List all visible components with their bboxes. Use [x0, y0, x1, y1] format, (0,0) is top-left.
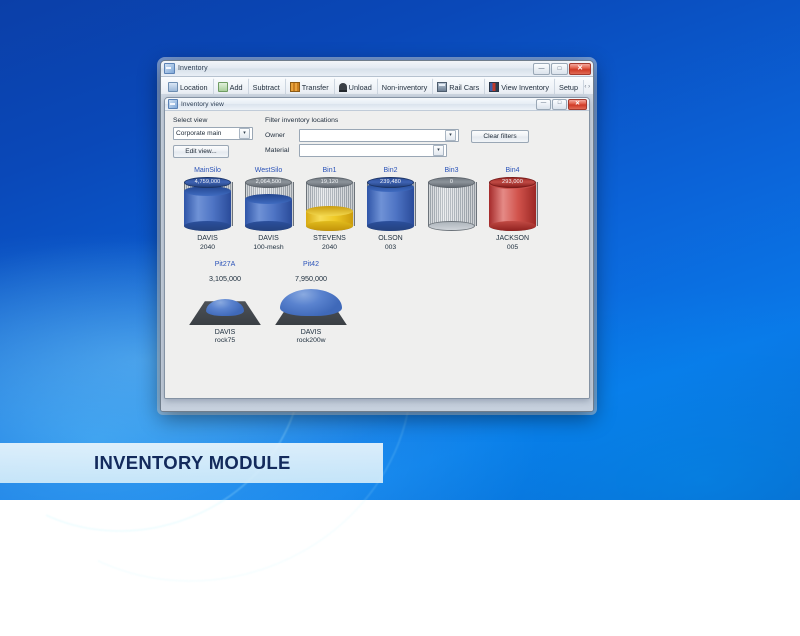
- pit-amount: 3,105,000: [209, 275, 241, 282]
- tank-owner: JACKSON: [496, 235, 529, 244]
- tank-cell[interactable]: Bin4293,000JACKSON005: [482, 167, 543, 252]
- toolbar-label-transfer: Transfer: [302, 83, 329, 92]
- pit-graphic: [189, 289, 261, 325]
- tank-name: Bin2: [383, 167, 397, 174]
- tank-top-rim: 4,759,000: [184, 177, 231, 188]
- material-filter-row: Material ▾: [265, 144, 459, 157]
- tank-graphic: 19,120: [306, 177, 353, 231]
- tank-amount: 0: [429, 178, 474, 187]
- tank-amount: 4,759,000: [185, 178, 230, 187]
- tank-cell[interactable]: Bin2239,480OLSON003: [360, 167, 421, 252]
- tank-graphic: 293,000: [489, 177, 536, 231]
- tank-cell[interactable]: WestSilo2,064,500DAVIS100-mesh: [238, 167, 299, 252]
- select-view-group: Select view Corporate main ▾ Edit view..…: [173, 118, 253, 158]
- pit-material-pile: [280, 289, 342, 316]
- owner-label: Owner: [265, 132, 295, 139]
- pit-name: Pit27A: [215, 261, 236, 268]
- mdi-client-area: Inventory view — □ ✕ Select view Corpora…: [161, 94, 593, 411]
- toolbar-label-setup: Setup: [559, 83, 578, 92]
- app-window-title: Inventory: [178, 65, 208, 72]
- location-icon: [168, 82, 178, 92]
- close-button[interactable]: ✕: [569, 63, 591, 75]
- edit-view-button[interactable]: Edit view...: [173, 145, 229, 158]
- owner-dropdown[interactable]: ▾: [299, 129, 459, 142]
- child-window-controls: — □ ✕: [536, 99, 587, 110]
- tank-amount: 19,120: [307, 178, 352, 187]
- tank-graphic: 4,759,000: [184, 177, 231, 231]
- pit-owner: DAVIS: [215, 328, 236, 337]
- child-close-button[interactable]: ✕: [568, 99, 587, 110]
- pit-cell[interactable]: Pit427,950,000DAVISrock200w: [273, 261, 349, 346]
- transfer-icon: [290, 82, 300, 92]
- chevron-down-icon[interactable]: ▾: [445, 130, 456, 141]
- tank-graphic: 2,064,500: [245, 177, 292, 231]
- child-maximize-button[interactable]: □: [552, 99, 567, 110]
- pit-graphic: [275, 289, 347, 325]
- tank-cell[interactable]: MainSilo4,759,000DAVIS2040: [177, 167, 238, 252]
- tank-owner: STEVENS: [313, 235, 346, 244]
- toolbar-label-subtract: Subtract: [253, 83, 280, 92]
- tank-top-rim: 239,480: [367, 177, 414, 188]
- child-titlebar[interactable]: Inventory view — □ ✕: [165, 98, 589, 111]
- tank-row: MainSilo4,759,000DAVIS2040WestSilo2,064,…: [173, 167, 581, 252]
- tank-name: Bin3: [444, 167, 458, 174]
- tank-amount: 293,000: [490, 178, 535, 187]
- tank-graphic: 239,480: [367, 177, 414, 231]
- railcar-icon: [437, 82, 447, 92]
- child-icon: [168, 99, 178, 109]
- application-window: Inventory — □ ✕ Location Add Subtract Tr…: [160, 60, 594, 412]
- pit-owner: DAVIS: [301, 328, 322, 337]
- toolbar-label-unload: Unload: [349, 83, 372, 92]
- tank-top-rim: 0: [428, 177, 475, 188]
- tank-name: MainSilo: [194, 167, 221, 174]
- unload-icon: [339, 83, 347, 91]
- tank-fill-level: [306, 211, 353, 226]
- pit-material: rock200w: [296, 337, 325, 346]
- tank-owner: DAVIS: [258, 235, 279, 244]
- tank-top-rim: 19,120: [306, 177, 353, 188]
- select-view-label: Select view: [173, 118, 253, 125]
- material-label: Material: [265, 147, 295, 154]
- pit-name: Pit42: [303, 261, 319, 268]
- tank-shell: [428, 182, 477, 226]
- pit-cell[interactable]: Pit27A3,105,000DAVISrock75: [187, 261, 263, 346]
- toolbar-label-non-inventory: Non-inventory: [382, 83, 427, 92]
- pit-material: rock75: [215, 337, 235, 346]
- tank-material: 003: [385, 244, 396, 252]
- tank-material: 2040: [200, 244, 215, 252]
- child-minimize-button[interactable]: —: [536, 99, 551, 110]
- pit-row: Pit27A3,105,000DAVISrock75Pit427,950,000…: [173, 261, 581, 346]
- tank-fill-level: [489, 184, 536, 226]
- inventory-view-body: Select view Corporate main ▾ Edit view..…: [165, 111, 589, 398]
- tank-material: 2040: [322, 244, 337, 252]
- child-window-title: Inventory view: [181, 101, 224, 108]
- tank-fill-level: [184, 191, 231, 225]
- material-dropdown[interactable]: ▾: [299, 144, 447, 157]
- tank-top-rim: 293,000: [489, 177, 536, 188]
- chevron-down-icon[interactable]: ▾: [433, 145, 444, 156]
- tank-material: 100-mesh: [253, 244, 283, 252]
- pit-material-pile: [206, 299, 244, 316]
- tank-amount: 2,064,500: [246, 178, 291, 187]
- tank-fill-level: [245, 199, 292, 226]
- select-view-value: Corporate main: [176, 130, 221, 137]
- caption-text: INVENTORY MODULE: [94, 452, 291, 474]
- inventory-view-window: Inventory view — □ ✕ Select view Corpora…: [164, 97, 590, 399]
- tank-name: Bin4: [505, 167, 519, 174]
- tank-amount: 239,480: [368, 178, 413, 187]
- filter-inventory-locations-group: Filter inventory locations Owner ▾ Mater…: [265, 118, 459, 157]
- app-titlebar[interactable]: Inventory — □ ✕: [161, 61, 593, 77]
- caption-banner: INVENTORY MODULE: [0, 443, 383, 483]
- tank-material: 005: [507, 244, 518, 252]
- minimize-button[interactable]: —: [533, 63, 550, 75]
- add-icon: [218, 82, 228, 92]
- tank-fill-level: [367, 187, 414, 226]
- tank-name: Bin1: [322, 167, 336, 174]
- app-window-controls: — □ ✕: [533, 63, 591, 75]
- owner-filter-row: Owner ▾: [265, 129, 459, 142]
- toolbar-label-add: Add: [230, 83, 243, 92]
- filter-group-label: Filter inventory locations: [265, 118, 459, 125]
- tank-owner: OLSON: [378, 235, 403, 244]
- pit-amount: 7,950,000: [295, 275, 327, 282]
- tank-name: WestSilo: [255, 167, 283, 174]
- tank-top-rim: 2,064,500: [245, 177, 292, 188]
- tank-cell[interactable]: Bin30: [421, 167, 482, 252]
- filter-form: Select view Corporate main ▾ Edit view..…: [173, 118, 581, 158]
- view-inventory-icon: [489, 82, 499, 92]
- clear-filters-button[interactable]: Clear filters: [471, 130, 529, 143]
- tank-graphic: 0: [428, 177, 475, 231]
- toolbar-label-location: Location: [180, 83, 208, 92]
- app-icon: [164, 63, 175, 74]
- chevron-down-icon[interactable]: ▾: [239, 128, 250, 139]
- toolbar-label-view-inventory: View Inventory: [501, 83, 549, 92]
- select-view-dropdown[interactable]: Corporate main ▾: [173, 127, 253, 140]
- maximize-button[interactable]: □: [551, 63, 568, 75]
- tank-cell[interactable]: Bin119,120STEVENS2040: [299, 167, 360, 252]
- tank-owner: DAVIS: [197, 235, 218, 244]
- toolbar-label-rail-cars: Rail Cars: [449, 83, 479, 92]
